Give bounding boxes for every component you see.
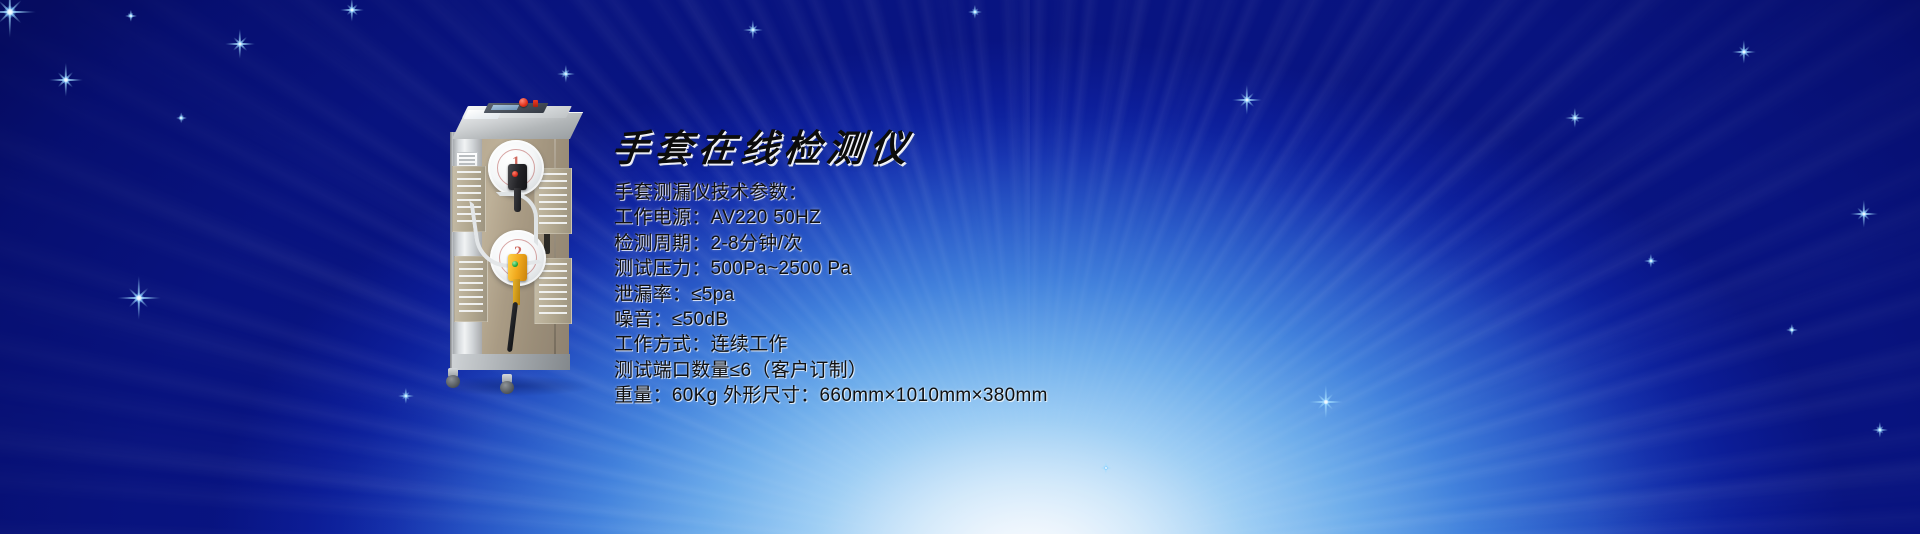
specification-line: 工作电源：AV220 50HZ <box>614 205 1048 230</box>
power-switch-button <box>533 100 538 107</box>
specification-line: 重量：60Kg 外形尺寸：660mm×1010mm×380mm <box>614 383 1048 408</box>
black-probe-stem <box>514 188 521 212</box>
product-title: 手套在线检测仪 <box>609 118 916 172</box>
specification-line: 噪音：≤50dB <box>614 307 1048 332</box>
machine-caster-wheel-right <box>500 374 514 394</box>
emergency-stop-button <box>519 98 528 107</box>
black-probe-indicator-led <box>512 171 518 177</box>
specification-line: 手套测漏仪技术参数： <box>614 180 1048 205</box>
specification-line: 测试压力：500Pa~2500 Pa <box>614 256 1048 281</box>
product-banner: 1 2 手套在线检测仪 手套测漏仪技术参数：工作电源：AV220 50HZ检测周… <box>0 0 1920 534</box>
machine-base-plinth <box>452 354 570 370</box>
machine-caster-wheel-left <box>446 368 460 388</box>
specification-line: 工作方式：连续工作 <box>614 332 1048 357</box>
specification-line: 检测周期：2-8分钟/次 <box>614 231 1048 256</box>
machine-display-screen <box>491 105 519 110</box>
specification-list: 手套测漏仪技术参数：工作电源：AV220 50HZ检测周期：2-8分钟/次测试压… <box>614 180 1048 409</box>
machine-ground-shadow <box>440 376 590 396</box>
machine-body-seam <box>554 128 556 364</box>
machine-vent-panel-lower-left <box>454 256 488 322</box>
specification-line: 测试端口数量≤6（客户订制） <box>614 358 1048 383</box>
specification-line: 泄漏率：≤5pa <box>614 282 1048 307</box>
product-photo-glove-leak-tester: 1 2 <box>422 84 622 396</box>
yellow-probe-handle <box>508 254 527 281</box>
yellow-probe-indicator-led <box>512 261 518 267</box>
black-probe-handle <box>508 164 527 190</box>
